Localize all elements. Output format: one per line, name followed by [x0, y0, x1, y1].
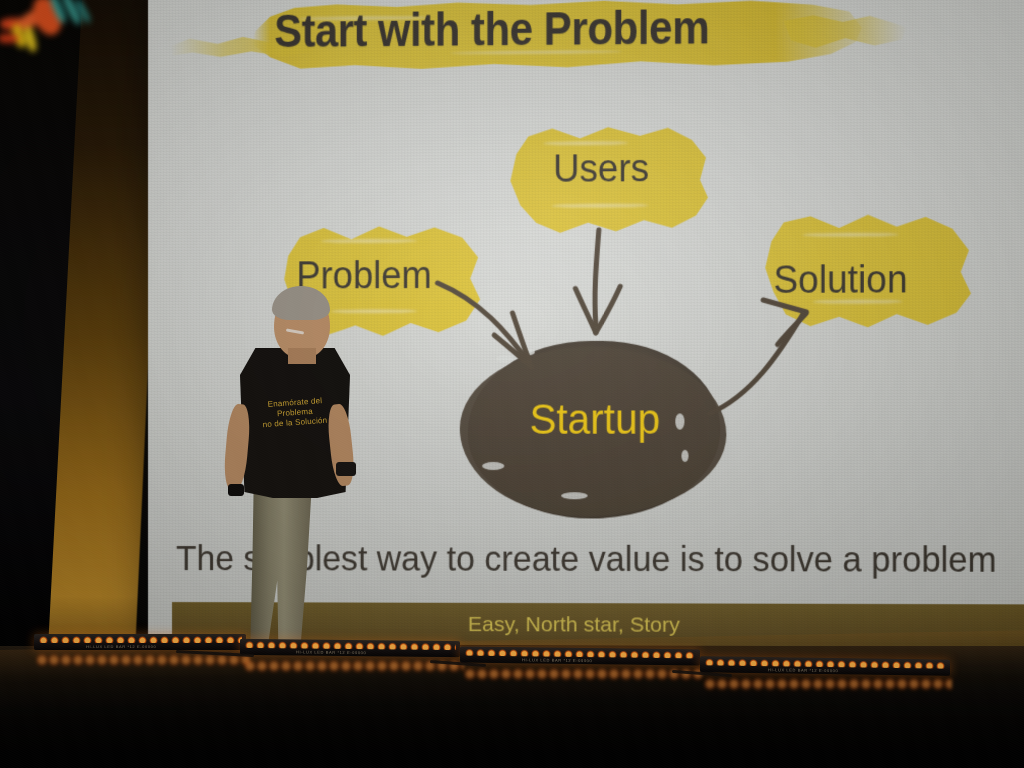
speaker-watch: [336, 462, 356, 476]
decorative-lights-icon: [0, 0, 124, 70]
led-reflection-4: [704, 676, 952, 698]
led-bar-1: HI-LUX LED BAR *12 E-00000: [34, 634, 246, 650]
conference-photo: Start with the Problem Users Problem Sol…: [0, 0, 1024, 768]
led-bar-3: HI-LUX LED BAR *12 E-00000: [460, 647, 700, 666]
node-label-users: Users: [553, 148, 649, 192]
slide-footer-note: Easy, North star, Story: [468, 613, 680, 638]
node-label-startup: Startup: [522, 395, 667, 444]
speaker-clicker: [228, 484, 244, 496]
slide-title: Start with the Problem: [274, 0, 709, 58]
led-reflection-3: [464, 666, 702, 688]
node-label-solution: Solution: [773, 259, 907, 303]
led-reflection-1: [36, 652, 250, 674]
speaker-neck: [288, 348, 316, 364]
led-bar-2: HI-LUX LED BAR *12 E-00000: [240, 639, 460, 657]
